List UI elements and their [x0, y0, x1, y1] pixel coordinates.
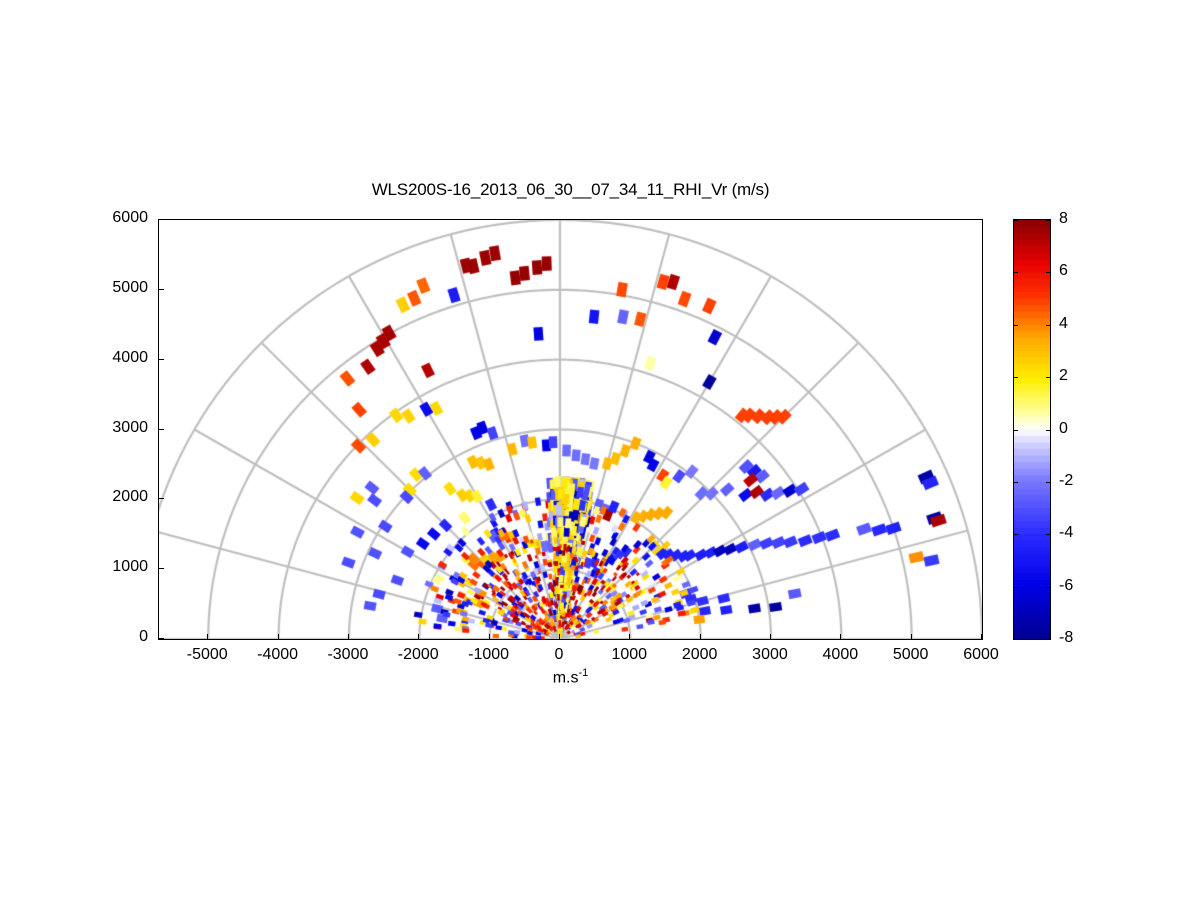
- y-tick-label: 2000: [86, 488, 148, 506]
- colorbar-tick: [1046, 430, 1051, 431]
- x-tick-label: -5000: [167, 646, 247, 664]
- colorbar-tick: [1013, 220, 1018, 221]
- x-tick-mark: [278, 634, 279, 640]
- x-tick-mark: [559, 634, 560, 640]
- x-axis-unit-text: m.s: [553, 669, 579, 686]
- x-tick-label: 0: [519, 646, 599, 664]
- page-title: WLS200S-16_2013_06_30__07_34_11_RHI_Vr (…: [158, 180, 983, 200]
- x-tick-mark: [911, 634, 912, 640]
- colorbar-tick-label: -2: [1059, 472, 1073, 490]
- x-tick-mark: [770, 634, 771, 640]
- x-tick-mark: [981, 634, 982, 640]
- x-tick-mark: [348, 634, 349, 640]
- y-tick-mark: [158, 498, 164, 499]
- colorbar: -8-6-4-202468: [1013, 219, 1051, 640]
- y-tick-label: 4000: [86, 349, 148, 367]
- colorbar-tick-label: 6: [1059, 262, 1068, 280]
- x-tick-label: -2000: [378, 646, 458, 664]
- y-tick-label: 5000: [86, 279, 148, 297]
- colorbar-tick: [1046, 220, 1051, 221]
- x-axis-label: m.s-1: [158, 667, 983, 687]
- x-tick-mark: [629, 634, 630, 640]
- colorbar-tick: [1046, 272, 1051, 273]
- colorbar-tick: [1046, 377, 1051, 378]
- x-tick-label: -1000: [449, 646, 529, 664]
- colorbar-tick: [1013, 587, 1018, 588]
- x-tick-label: 4000: [800, 646, 880, 664]
- x-tick-mark: [700, 634, 701, 640]
- colorbar-tick: [1046, 482, 1051, 483]
- colorbar-tick: [1046, 534, 1051, 535]
- x-tick-label: 3000: [730, 646, 810, 664]
- colorbar-tick-label: 8: [1059, 210, 1068, 228]
- colorbar-tick: [1013, 430, 1018, 431]
- y-tick-mark: [158, 359, 164, 360]
- x-tick-label: -4000: [238, 646, 318, 664]
- colorbar-tick-label: 2: [1059, 367, 1068, 385]
- colorbar-tick: [1013, 325, 1018, 326]
- colorbar-tick: [1046, 587, 1051, 588]
- x-axis-unit-exponent: -1: [579, 667, 589, 679]
- y-tick-mark: [158, 568, 164, 569]
- colorbar-tick-label: -4: [1059, 524, 1073, 542]
- colorbar-tick: [1046, 639, 1051, 640]
- colorbar-tick: [1013, 272, 1018, 273]
- y-tick-mark: [158, 289, 164, 290]
- y-tick-label: 6000: [86, 209, 148, 227]
- y-tick-mark: [158, 638, 164, 639]
- y-tick-label: 3000: [86, 419, 148, 437]
- x-tick-label: 5000: [871, 646, 951, 664]
- colorbar-tick: [1013, 482, 1018, 483]
- x-tick-label: -3000: [308, 646, 388, 664]
- colorbar-tick: [1046, 325, 1051, 326]
- colorbar-tick-label: -8: [1059, 629, 1073, 647]
- x-tick-mark: [489, 634, 490, 640]
- colorbar-tick: [1013, 534, 1018, 535]
- x-tick-label: 1000: [589, 646, 669, 664]
- colorbar-tick: [1013, 377, 1018, 378]
- y-tick-label: 0: [86, 628, 148, 646]
- x-tick-label: 2000: [660, 646, 740, 664]
- x-tick-mark: [840, 634, 841, 640]
- colorbar-tick-label: -6: [1059, 577, 1073, 595]
- y-tick-label: 1000: [86, 558, 148, 576]
- y-tick-mark: [158, 429, 164, 430]
- rhi-scan-canvas: [159, 220, 982, 639]
- plot-area: [158, 219, 983, 640]
- y-tick-mark: [158, 219, 164, 220]
- colorbar-tick: [1013, 639, 1018, 640]
- figure-root: WLS200S-16_2013_06_30__07_34_11_RHI_Vr (…: [0, 0, 1201, 901]
- x-tick-label: 6000: [941, 646, 1021, 664]
- x-tick-mark: [418, 634, 419, 640]
- x-tick-mark: [207, 634, 208, 640]
- colorbar-tick-label: 4: [1059, 315, 1068, 333]
- colorbar-tick-label: 0: [1059, 420, 1068, 438]
